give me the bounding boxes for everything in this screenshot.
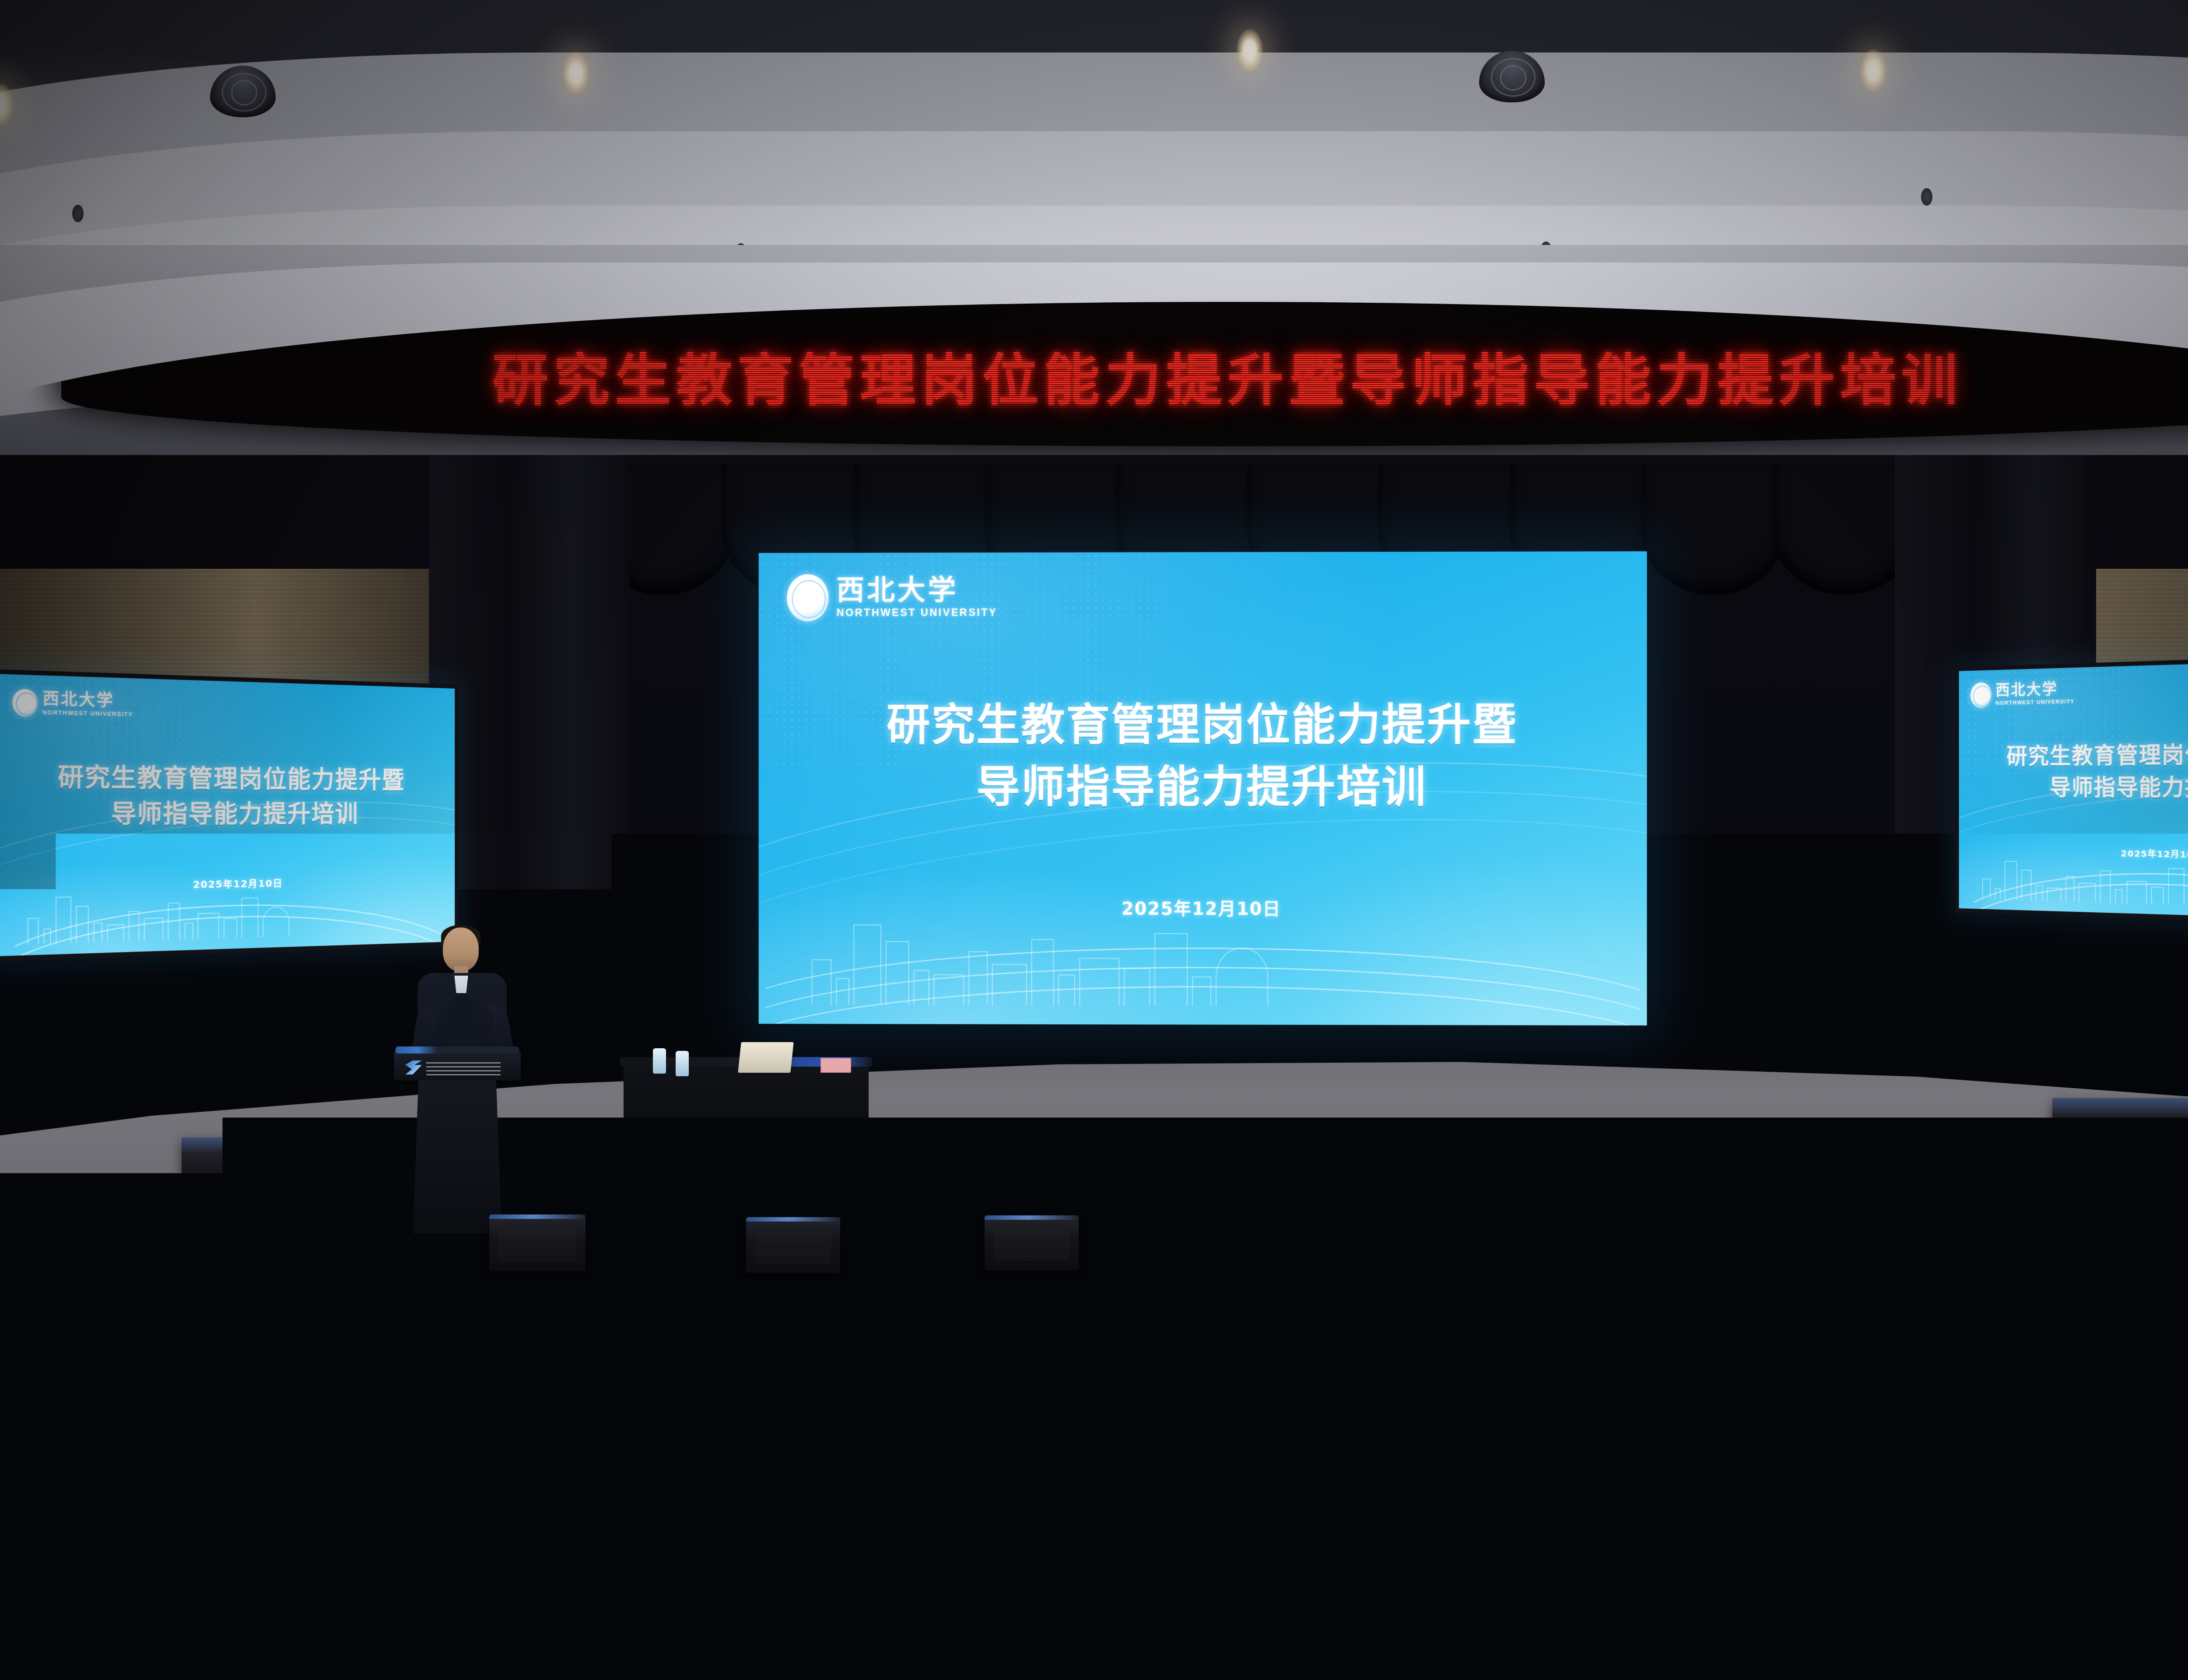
ceiling-spotlight xyxy=(562,52,589,94)
desk-microphone xyxy=(1365,1231,1371,1262)
audience-head xyxy=(1002,1345,1060,1412)
slide-date: 2025年12月10日 xyxy=(759,894,1647,920)
slide-arc-lines xyxy=(0,891,459,957)
desk-name-card xyxy=(1569,1230,1595,1263)
audience-head xyxy=(446,1437,511,1512)
university-logo-text: 西北大学 NORTHWEST UNIVERSITY xyxy=(42,691,133,717)
audience-head xyxy=(1435,1524,1512,1615)
desk-name-card xyxy=(497,1233,524,1267)
desk-name-card xyxy=(1781,1235,1808,1268)
university-name-cn: 西北大学 xyxy=(836,576,997,604)
podium xyxy=(394,1050,521,1234)
audience-head xyxy=(293,1517,371,1608)
university-name-en: NORTHWEST UNIVERSITY xyxy=(836,606,997,619)
ceiling-downlight xyxy=(1921,188,1932,206)
handout-paper xyxy=(1784,1282,1835,1297)
audience-head xyxy=(2170,1345,2188,1413)
audience-head xyxy=(932,1515,1011,1608)
audience-head xyxy=(880,1273,932,1334)
table-name-card xyxy=(820,1058,851,1073)
side-monitor-left: 西北大学 NORTHWEST UNIVERSITY 研究生教育管理岗位能力提升暨… xyxy=(0,669,459,961)
desk-microphone xyxy=(2090,1247,2096,1277)
university-logo-text: 西北大学 NORTHWEST UNIVERSITY xyxy=(1995,681,2075,706)
slide-arc-lines xyxy=(1955,861,2188,922)
audience-head xyxy=(0,1520,77,1610)
audience-head xyxy=(893,1426,960,1505)
podium-plaque xyxy=(426,1060,501,1075)
desk-microphone xyxy=(1081,1231,1087,1262)
side-monitor-right: 西北大学 NORTHWEST UNIVERSITY 研究生教育管理岗位能力提升暨… xyxy=(1955,654,2188,926)
presenter-head xyxy=(443,927,479,971)
university-emblem-icon xyxy=(787,574,828,621)
desk-microphone xyxy=(294,1246,300,1277)
audience-head xyxy=(1724,1270,1777,1332)
desk-name-card xyxy=(1304,1226,1329,1258)
desk-name-card xyxy=(784,1228,810,1261)
desk-name-card xyxy=(1047,1226,1072,1258)
university-logo-text: 西北大学 NORTHWEST UNIVERSITY xyxy=(836,576,997,619)
university-logo: 西北大学 NORTHWEST UNIVERSITY xyxy=(1971,680,2075,708)
audience-head xyxy=(1580,1276,1631,1336)
audience-head xyxy=(473,1271,524,1332)
university-name-cn: 西北大学 xyxy=(42,691,133,710)
audience-head xyxy=(1098,1524,1175,1614)
slide-title-line1: 研究生教育管理岗位能力提升暨 xyxy=(1959,737,2188,773)
audience-head xyxy=(306,1339,366,1408)
audience-head xyxy=(1352,1434,1418,1511)
led-banner-text: 研究生教育管理岗位能力提升暨导师指导能力提升培训 xyxy=(131,335,2188,416)
audience-head xyxy=(1663,1434,1729,1511)
audience-head xyxy=(1160,1270,1212,1332)
slide-title-line1: 研究生教育管理岗位能力提升暨 xyxy=(0,759,455,798)
ceiling-downlight xyxy=(72,205,84,222)
audience-head xyxy=(1287,1344,1343,1410)
led-banner-panel: 研究生教育管理岗位能力提升暨导师指导能力提升培训 xyxy=(61,302,2188,446)
university-name-cn: 西北大学 xyxy=(1995,681,2075,698)
university-name-en: NORTHWEST UNIVERSITY xyxy=(1995,698,2075,706)
audience-head xyxy=(1952,1516,2032,1610)
slide-title: 研究生教育管理岗位能力提升暨 导师指导能力提升培训 xyxy=(1959,737,2188,805)
slide-title-line1: 研究生教育管理岗位能力提升暨 xyxy=(759,693,1647,756)
audience-head xyxy=(1869,1346,1926,1414)
presentation-slide: 西北大学 NORTHWEST UNIVERSITY 研究生教育管理岗位能力提升暨… xyxy=(759,551,1647,1025)
desk-microphone xyxy=(836,1233,842,1263)
left-monitor-slide: 西北大学 NORTHWEST UNIVERSITY 研究生教育管理岗位能力提升暨… xyxy=(0,674,455,956)
audience-head xyxy=(1869,1280,1920,1340)
slide-title-line2: 导师指导能力提升培训 xyxy=(0,795,455,832)
audience-head xyxy=(298,1429,364,1507)
podium-top xyxy=(394,1050,521,1081)
desk-microphone xyxy=(552,1238,558,1269)
audience-head xyxy=(740,1267,791,1326)
audience-head xyxy=(346,1282,399,1344)
seat-row xyxy=(0,1610,2188,1652)
audience-head xyxy=(451,1526,527,1615)
audience-head xyxy=(595,1428,662,1506)
audience-area xyxy=(0,1251,2188,1680)
university-emblem-icon xyxy=(12,689,38,717)
led-banner: 研究生教育管理岗位能力提升暨导师指导能力提升培训 xyxy=(61,302,2188,446)
podium-logo-mark-icon xyxy=(405,1060,422,1074)
audience-head xyxy=(105,1280,158,1341)
audience-head xyxy=(1440,1268,1493,1330)
audience-head xyxy=(2013,1269,2067,1332)
auditorium-scene: 研究生教育管理岗位能力提升暨导师指导能力提升培训 xyxy=(0,0,2188,1680)
audience-head xyxy=(1295,1278,1347,1338)
slide-title: 研究生教育管理岗位能力提升暨 导师指导能力提升培训 xyxy=(0,759,455,832)
audience-head xyxy=(1142,1336,1202,1405)
audience-head xyxy=(442,1347,500,1414)
handout-paper xyxy=(568,1280,618,1295)
slide-arc-lines xyxy=(759,930,1647,1025)
main-projection-screen: 西北大学 NORTHWEST UNIVERSITY 研究生教育管理岗位能力提升暨… xyxy=(759,551,1647,1025)
slide-title-line2: 导师指导能力提升培训 xyxy=(759,756,1647,819)
desk-name-card xyxy=(234,1242,262,1277)
audience-head xyxy=(770,1525,846,1614)
ceiling-spotlight xyxy=(1860,49,1887,92)
ceiling xyxy=(0,0,2188,280)
audience-head xyxy=(613,1277,666,1338)
audience-head xyxy=(2017,1335,2078,1406)
university-emblem-icon xyxy=(1971,682,1992,708)
laptop[interactable] xyxy=(738,1042,793,1073)
audience-head xyxy=(1431,1335,1491,1406)
audience-head xyxy=(144,1529,220,1616)
phone-screen[interactable] xyxy=(1164,1650,1175,1670)
water-bottle xyxy=(653,1048,666,1074)
slide-title-line2: 导师指导能力提升培训 xyxy=(1959,771,2188,805)
audience-head xyxy=(608,1516,687,1608)
right-monitor-slide: 西北大学 NORTHWEST UNIVERSITY 研究生教育管理岗位能力提升暨… xyxy=(1959,658,2188,921)
university-logo: 西北大学 NORTHWEST UNIVERSITY xyxy=(12,689,133,719)
audience-head xyxy=(228,1275,278,1334)
audience-head xyxy=(1199,1425,1266,1505)
audience-head xyxy=(1046,1435,1112,1512)
ceiling-spotlight xyxy=(1236,29,1263,72)
audience-head xyxy=(1982,1435,2049,1513)
audience-head xyxy=(1777,1525,1855,1616)
audience-head xyxy=(744,1436,809,1512)
desk-microphone xyxy=(1838,1240,1844,1270)
slide-title: 研究生教育管理岗位能力提升暨 导师指导能力提升培训 xyxy=(759,693,1647,818)
audience-head xyxy=(13,1431,79,1508)
desk-microphone xyxy=(1623,1235,1629,1265)
audience-head xyxy=(153,1439,217,1514)
audience-head xyxy=(1820,1426,1888,1505)
university-logo: 西北大学 NORTHWEST UNIVERSITY xyxy=(787,574,997,621)
audience-head xyxy=(1020,1277,1071,1338)
water-bottle xyxy=(676,1051,689,1076)
audience-head xyxy=(1606,1515,1686,1608)
audience-head xyxy=(1265,1515,1344,1608)
university-name-en: NORTHWEST UNIVERSITY xyxy=(42,709,133,717)
phone-screen[interactable] xyxy=(245,1643,256,1663)
audience-head xyxy=(858,1337,917,1407)
led-banner-screen: 研究生教育管理岗位能力提升暨导师指导能力提升培训 xyxy=(131,322,2188,429)
audience-head xyxy=(1505,1425,1574,1506)
